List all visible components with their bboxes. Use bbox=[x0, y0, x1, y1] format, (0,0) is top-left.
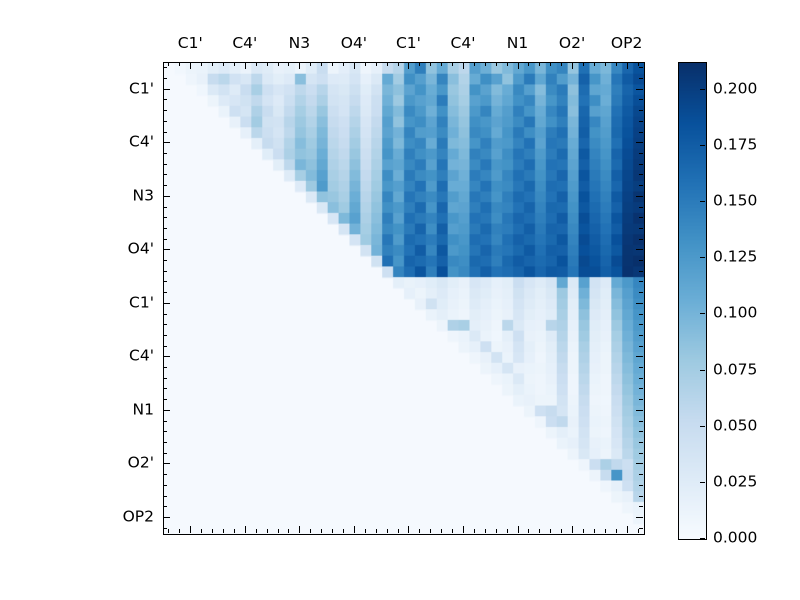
colorbar-tick bbox=[700, 426, 705, 427]
x-tick-label: C4' bbox=[232, 36, 257, 52]
y-tick-label: N1 bbox=[100, 402, 154, 418]
x-tick-label: N1 bbox=[507, 36, 528, 52]
x-tick-label: N3 bbox=[289, 36, 310, 52]
x-tick-label: OP2 bbox=[611, 36, 642, 52]
colorbar-tick-label: 0.000 bbox=[713, 530, 757, 546]
y-tick-label: O2' bbox=[100, 456, 154, 472]
colorbar-tick-label: 0.150 bbox=[713, 193, 757, 209]
colorbar-tick bbox=[700, 89, 705, 90]
heatmap-image bbox=[164, 63, 644, 534]
y-tick-label: C4' bbox=[100, 349, 154, 365]
x-tick-label: C1' bbox=[178, 36, 203, 52]
y-tick-label: C1' bbox=[100, 295, 154, 311]
colorbar-tick-label: 0.175 bbox=[713, 137, 757, 153]
y-tick-label: O4' bbox=[100, 242, 154, 258]
y-tick-label: C4' bbox=[100, 135, 154, 151]
colorbar-tick bbox=[700, 313, 705, 314]
colorbar-tick-label: 0.125 bbox=[713, 249, 757, 265]
colorbar-tick-label: 0.050 bbox=[713, 418, 757, 434]
colorbar-tick bbox=[700, 145, 705, 146]
colorbar-ticks bbox=[678, 62, 705, 538]
colorbar-tick bbox=[700, 482, 705, 483]
y-tick-label: OP2 bbox=[100, 509, 154, 525]
heatmap-axes bbox=[163, 62, 645, 535]
colorbar-tick bbox=[700, 370, 705, 371]
colorbar-tick bbox=[700, 201, 705, 202]
x-tick-label: C1' bbox=[396, 36, 421, 52]
colorbar-tick bbox=[700, 257, 705, 258]
colorbar-tick-label: 0.200 bbox=[713, 81, 757, 97]
colorbar-tick-label: 0.025 bbox=[713, 474, 757, 490]
x-tick-label: O2' bbox=[559, 36, 585, 52]
x-tick-label: O4' bbox=[341, 36, 367, 52]
colorbar-tick bbox=[700, 538, 705, 539]
y-tick-label: C1' bbox=[100, 81, 154, 97]
y-tick-label: N3 bbox=[100, 188, 154, 204]
figure-canvas: C1'C4'N3O4'C1'C4'N1O2'OP2 C1'C4'N3O4'C1'… bbox=[0, 0, 800, 600]
colorbar-tick-label: 0.100 bbox=[713, 305, 757, 321]
colorbar-tick-label: 0.075 bbox=[713, 362, 757, 378]
x-tick-label: C4' bbox=[451, 36, 476, 52]
